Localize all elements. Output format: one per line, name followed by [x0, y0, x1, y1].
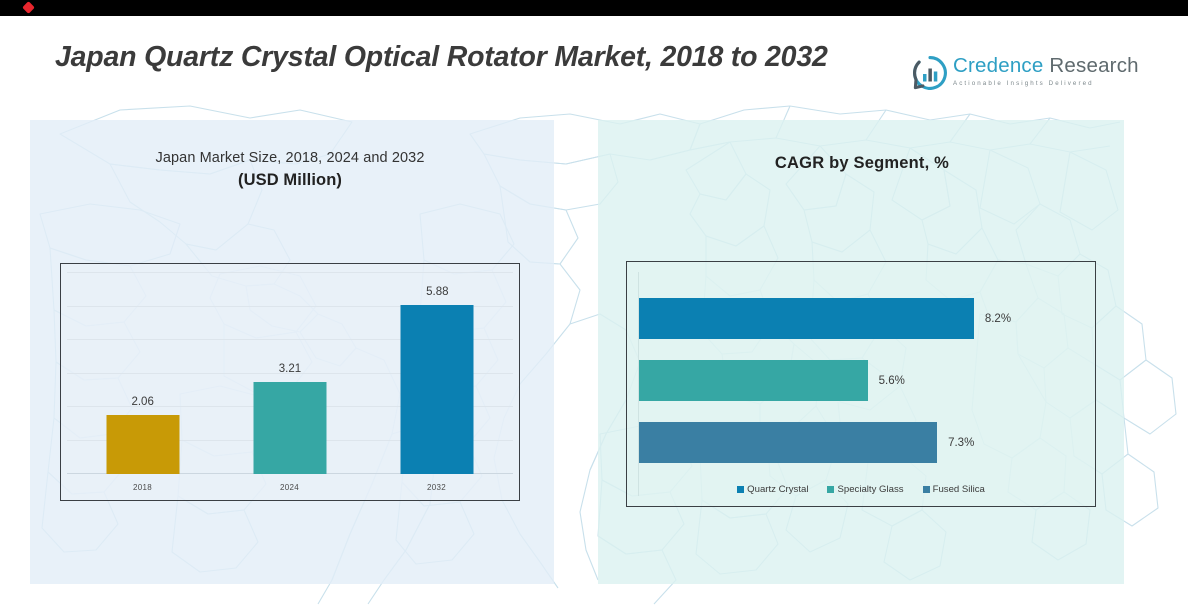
left-chart-caption-line2: (USD Million)	[60, 171, 520, 190]
bar-value-label: 5.88	[426, 286, 448, 298]
bar-2024[interactable]	[253, 382, 326, 474]
left-chart-caption: Japan Market Size, 2018, 2024 and 2032 (…	[60, 150, 520, 190]
cagr-plot-area: Quartz CrystalSpecialty GlassFused Silic…	[627, 262, 1095, 506]
cagr-bar-chart: Quartz CrystalSpecialty GlassFused Silic…	[626, 261, 1096, 507]
bar-2032[interactable]	[401, 305, 474, 474]
legend-label: Specialty Glass	[837, 484, 903, 495]
brand-tagline: Actionable Insights Delivered	[953, 80, 1103, 87]
bar-row: 5.6%	[639, 360, 868, 401]
bar-specialty-glass[interactable]	[639, 360, 868, 401]
bar-fused-silica[interactable]	[639, 422, 937, 463]
category-label-2024: 2024	[216, 483, 363, 492]
bar-row: 8.2%	[639, 298, 974, 339]
category-label-2018: 2018	[69, 483, 216, 492]
brand-name-second: Research	[1049, 54, 1138, 77]
bar-chart-in-circle-icon	[913, 56, 947, 90]
page-title: Japan Quartz Crystal Optical Rotator Mar…	[55, 38, 885, 77]
legend-item[interactable]: Fused Silica	[923, 484, 985, 495]
legend-item[interactable]: Quartz Crystal	[737, 484, 808, 495]
legend-item[interactable]: Specialty Glass	[827, 484, 903, 495]
bar-2018[interactable]	[106, 415, 179, 474]
brand-logo: Credence Research Actionable Insights De…	[913, 54, 1105, 94]
legend-label: Quartz Crystal	[747, 484, 808, 495]
legend-swatch	[923, 486, 930, 493]
bar-column: 3.21	[216, 272, 363, 474]
bar-row: 7.3%	[639, 422, 937, 463]
bars-container: 2.063.215.88	[69, 272, 511, 474]
market-size-bar-chart: 2.063.215.88201820242032	[60, 263, 520, 501]
legend-swatch	[827, 486, 834, 493]
cagr-legend: Quartz CrystalSpecialty GlassFused Silic…	[627, 484, 1095, 495]
legend-swatch	[737, 486, 744, 493]
red-diamond-marker-icon	[22, 1, 35, 14]
market-size-plot-area: 2.063.215.88201820242032	[61, 264, 519, 500]
infographic-canvas: Japan Quartz Crystal Optical Rotator Mar…	[0, 0, 1188, 606]
bar-value-label: 2.06	[131, 396, 153, 408]
bar-column: 5.88	[364, 272, 511, 474]
bar-value-label: 3.21	[279, 363, 301, 375]
top-black-bar	[0, 0, 1188, 16]
brand-name: Credence Research	[953, 55, 1103, 78]
bar-quartz-crystal[interactable]	[639, 298, 974, 339]
brand-name-first: Credence	[953, 54, 1044, 77]
bar-column: 2.06	[69, 272, 216, 474]
header: Japan Quartz Crystal Optical Rotator Mar…	[0, 16, 1188, 116]
right-chart-caption-text: CAGR by Segment, %	[628, 154, 1096, 173]
bar-value-label: 8.2%	[985, 313, 1011, 325]
right-chart-caption: CAGR by Segment, %	[628, 154, 1096, 173]
brand-logo-text: Credence Research Actionable Insights De…	[953, 55, 1103, 87]
bar-value-label: 7.3%	[948, 437, 974, 449]
legend-label: Fused Silica	[933, 484, 985, 495]
bar-value-label: 5.6%	[879, 375, 905, 387]
left-chart-caption-line1: Japan Market Size, 2018, 2024 and 2032	[60, 150, 520, 166]
category-label-2032: 2032	[363, 483, 510, 492]
